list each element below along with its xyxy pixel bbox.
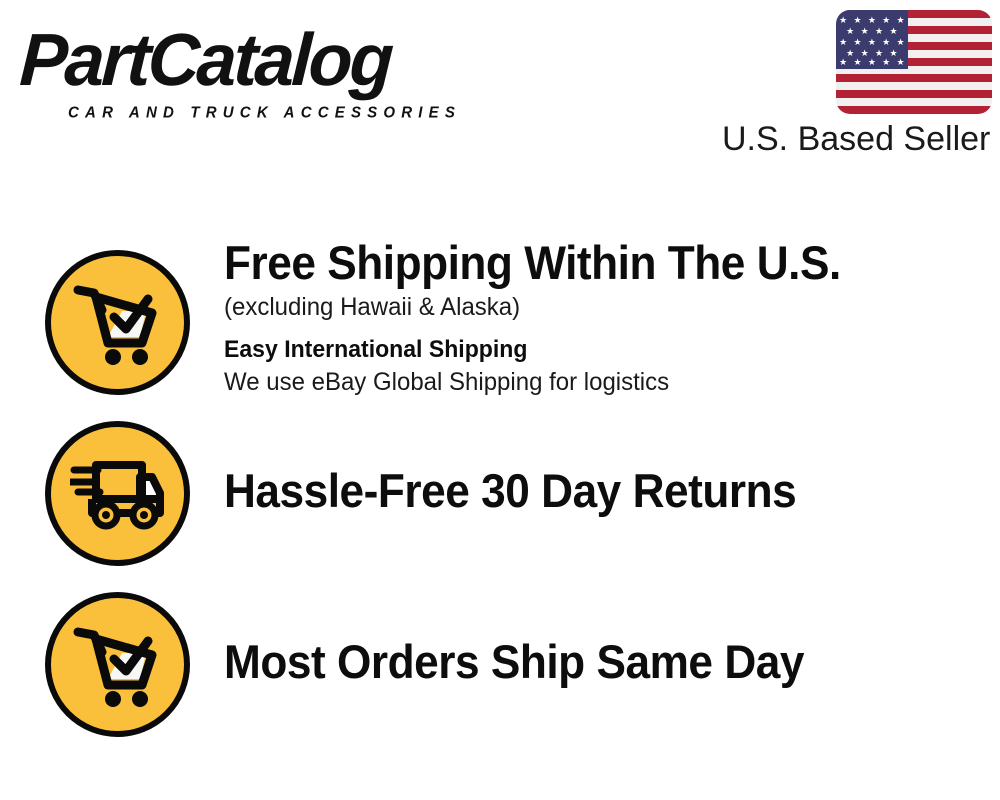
- us-flag-icon: ★★★★★ ★★★★ ★★★★★ ★★★★ ★★★★★: [836, 10, 992, 114]
- feature-text-block: Free Shipping Within The U.S. (excluding…: [224, 237, 984, 398]
- flag-star-row: ★★★★★: [836, 38, 908, 47]
- delivery-truck-icon: [45, 421, 190, 566]
- feature-subline: (excluding Hawaii & Alaska): [224, 291, 954, 323]
- feature-row-returns: Hassle-Free 30 Day Returns: [0, 421, 1000, 567]
- flag-star-row: ★★★★: [836, 27, 908, 36]
- feature-headline: Free Shipping Within The U.S.: [224, 237, 938, 289]
- shopping-cart-check-icon: [45, 250, 190, 395]
- us-based-seller-label: U.S. Based Seller: [722, 119, 990, 159]
- flag-star-row: ★★★★★: [836, 58, 908, 67]
- feature-sub-heading: Easy International Shipping: [224, 334, 954, 366]
- feature-headline: Hassle-Free 30 Day Returns: [224, 465, 938, 517]
- feature-row-free-shipping: Free Shipping Within The U.S. (excluding…: [0, 250, 1000, 410]
- feature-sub-detail: We use eBay Global Shipping for logistic…: [224, 366, 954, 398]
- feature-text-block: Most Orders Ship Same Day: [224, 636, 984, 688]
- brand-wordmark: PartCatalog: [18, 20, 393, 100]
- feature-headline: Most Orders Ship Same Day: [224, 636, 938, 688]
- flag-stripe: [836, 74, 992, 82]
- feature-text-block: Hassle-Free 30 Day Returns: [224, 465, 984, 517]
- flag-star-row: ★★★★★: [836, 16, 908, 25]
- shopping-cart-check-icon: [45, 592, 190, 737]
- flag-canton: ★★★★★ ★★★★ ★★★★★ ★★★★ ★★★★★: [836, 10, 908, 69]
- brand-tagline: CAR AND TRUCK ACCESSORIES: [68, 104, 461, 122]
- flag-stripe: [836, 106, 992, 114]
- flag-graphic: ★★★★★ ★★★★ ★★★★★ ★★★★ ★★★★★: [836, 10, 992, 114]
- brand-logo: PartCatalog CAR AND TRUCK ACCESSORIES: [22, 20, 502, 115]
- flag-stripe: [836, 90, 992, 98]
- feature-row-same-day-ship: Most Orders Ship Same Day: [0, 592, 1000, 738]
